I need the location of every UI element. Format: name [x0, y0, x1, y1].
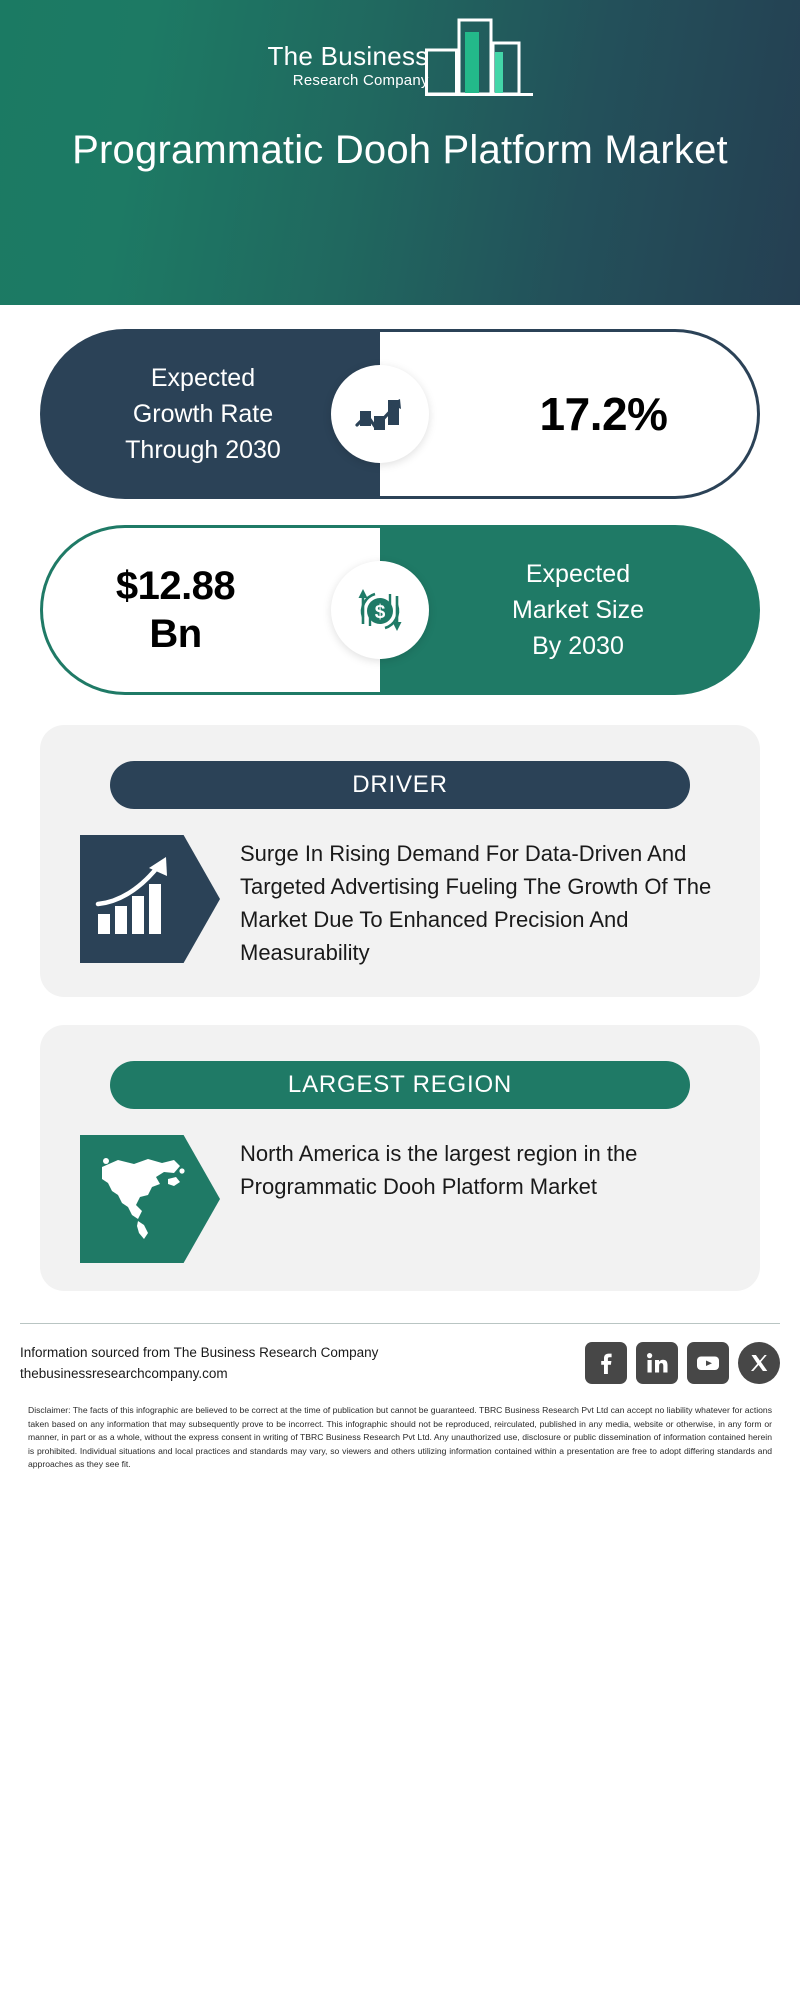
stat-label-line-3: Through 2030	[125, 436, 281, 464]
largest-region-tag: LARGEST REGION	[110, 1061, 690, 1109]
social-links	[585, 1342, 780, 1384]
largest-region-text: North America is the largest region in t…	[240, 1135, 726, 1203]
driver-text: Surge In Rising Demand For Data-Driven A…	[240, 835, 726, 969]
stat-label-text: Expected Growth Rate Through 2030	[101, 360, 319, 468]
header-banner: The Business Research Company Programmat…	[0, 0, 800, 305]
bar-chart-logo-mark	[425, 18, 533, 96]
stat-value-line-1: $12.88	[116, 564, 235, 608]
stat-label-line-2: Growth Rate	[133, 400, 273, 428]
bar-chart-growth-icon	[94, 852, 188, 947]
stat-value-panel: 17.2%	[380, 329, 760, 499]
facebook-icon[interactable]	[585, 1342, 627, 1384]
page-title: Programmatic Dooh Platform Market	[50, 125, 750, 175]
stat-value-panel: $12.88 Bn	[40, 525, 380, 695]
logo-line-2: Research Company	[293, 71, 429, 90]
stat-label-line-1: Expected	[151, 364, 255, 392]
linkedin-icon[interactable]	[636, 1342, 678, 1384]
driver-section: DRIVER Surge In Rising Demand For Data-D…	[40, 725, 760, 997]
stat-label-line-2: Market Size	[512, 596, 644, 624]
footer-source-line-1: Information sourced from The Business Re…	[20, 1342, 378, 1363]
x-twitter-icon[interactable]	[738, 1342, 780, 1384]
stat-label-line-3: By 2030	[532, 632, 624, 660]
disclaimer-text: Disclaimer: The facts of this infographi…	[20, 1404, 780, 1472]
stat-card-market-size: $12.88 Bn Expected Market Size By 2030 $	[0, 525, 800, 695]
dollar-cycle-icon: $	[331, 561, 429, 659]
stat-value-text: 17.2%	[470, 387, 668, 441]
stat-label-line-1: Expected	[526, 560, 630, 588]
youtube-icon[interactable]	[687, 1342, 729, 1384]
footer-source: Information sourced from The Business Re…	[20, 1342, 378, 1384]
largest-region-icon-shape	[80, 1135, 220, 1263]
stat-label-panel: Expected Market Size By 2030	[380, 525, 760, 695]
driver-icon-shape	[80, 835, 220, 963]
north-america-map-icon	[94, 1151, 190, 1248]
growth-chart-arrow-icon	[331, 365, 429, 463]
footer-divider	[20, 1323, 780, 1324]
largest-region-section: LARGEST REGION North America is the larg…	[40, 1025, 760, 1291]
stat-label-panel: Expected Growth Rate Through 2030	[40, 329, 380, 499]
driver-tag: DRIVER	[110, 761, 690, 809]
logo-line-1: The Business	[267, 41, 428, 71]
stat-value-line-2: Bn	[149, 612, 201, 656]
footer: Information sourced from The Business Re…	[0, 1323, 800, 1472]
stat-value-text: $12.88 Bn	[116, 562, 307, 658]
svg-text:$: $	[375, 602, 386, 623]
stat-label-text: Expected Market Size By 2030	[460, 556, 680, 664]
footer-source-line-2[interactable]: thebusinessresearchcompany.com	[20, 1363, 378, 1384]
stat-card-growth-rate: Expected Growth Rate Through 2030 17.2%	[0, 329, 800, 499]
company-logo: The Business Research Company	[0, 18, 800, 96]
